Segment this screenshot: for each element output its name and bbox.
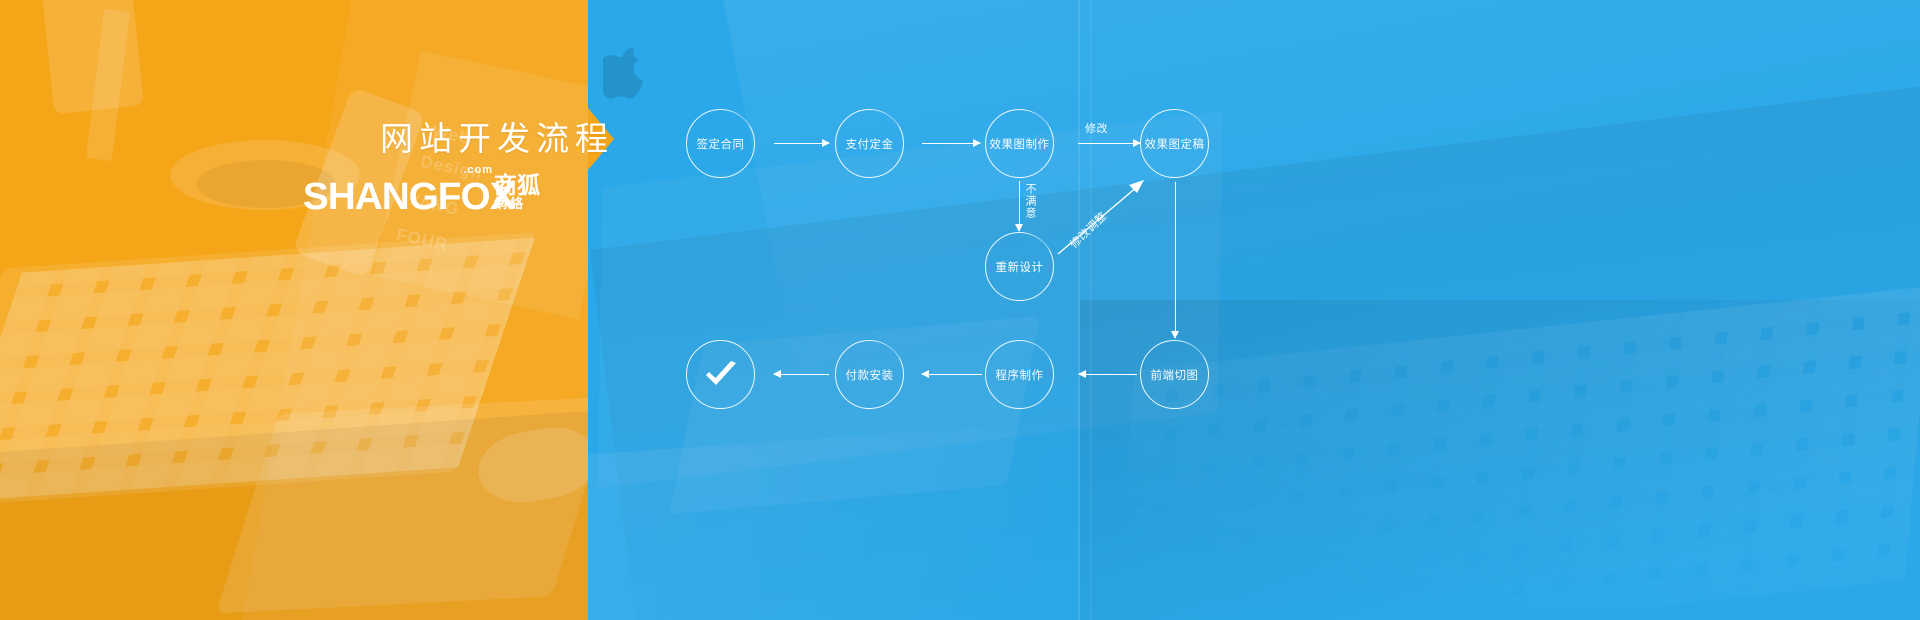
arrow-frontend-to-program <box>1079 374 1137 375</box>
logo-chinese-subtitle: 網絡 <box>494 197 526 210</box>
edge-label-modify: 修改 <box>1085 120 1108 136</box>
flow-node-label: 效果图定稿 <box>1145 136 1205 152</box>
flow-node-label: 效果图制作 <box>990 136 1050 152</box>
logo-wordmark: SHANGFOX <box>303 176 515 219</box>
flow-node-payment-install[interactable]: 付款安装 <box>835 340 904 409</box>
orange-panel: Web Design YANG FOUR <box>0 0 588 620</box>
flow-node-label: 程序制作 <box>996 367 1044 383</box>
flow-node-mockup-final[interactable]: 效果图定稿 <box>1140 109 1209 178</box>
banner-stage: Web Design YANG FOUR 网站开发流程 SHANGFOX .co… <box>0 0 1920 620</box>
flow-node-label: 支付定金 <box>846 136 894 152</box>
flow-node-redesign[interactable]: 重新设计 <box>985 232 1054 301</box>
flow-node-label: 前端切图 <box>1151 367 1199 383</box>
arrow-final-to-frontend <box>1175 182 1176 338</box>
logo: SHANGFOX .com 商狐 網絡 <box>305 168 570 220</box>
arrow-deposit-to-mockup <box>922 143 980 144</box>
logo-tld: .com <box>463 164 493 176</box>
flow-node-pay-deposit[interactable]: 支付定金 <box>835 109 904 178</box>
arrow-program-to-payment <box>922 374 982 375</box>
flow-node-complete[interactable]: 完成 <box>686 340 755 409</box>
arrow-payment-to-done <box>774 374 829 375</box>
page-title: 网站开发流程 <box>380 112 614 160</box>
arrow-mockup-to-final <box>1078 143 1140 144</box>
blue-bg-divider-line-1 <box>1078 0 1080 620</box>
blue-bg-divider-line-2 <box>1090 0 1092 620</box>
flow-node-sign-contract[interactable]: 签定合同 <box>686 109 755 178</box>
edge-label-unsatisfied: 不满意 <box>1022 183 1038 219</box>
flow-node-label: 付款安装 <box>846 367 894 383</box>
arrow-mockup-to-redesign <box>1019 181 1020 231</box>
arrow-contract-to-deposit <box>774 143 829 144</box>
logo-chinese-name: 商狐 <box>494 174 540 197</box>
flow-node-label: 重新设计 <box>996 259 1044 275</box>
flow-node-label: 签定合同 <box>697 136 745 152</box>
check-icon <box>704 361 738 389</box>
apple-logo-icon <box>603 46 647 102</box>
flow-node-mockup-production[interactable]: 效果图制作 <box>985 109 1054 178</box>
flow-node-frontend-slicing[interactable]: 前端切图 <box>1140 340 1209 409</box>
flow-node-program-production[interactable]: 程序制作 <box>985 340 1054 409</box>
